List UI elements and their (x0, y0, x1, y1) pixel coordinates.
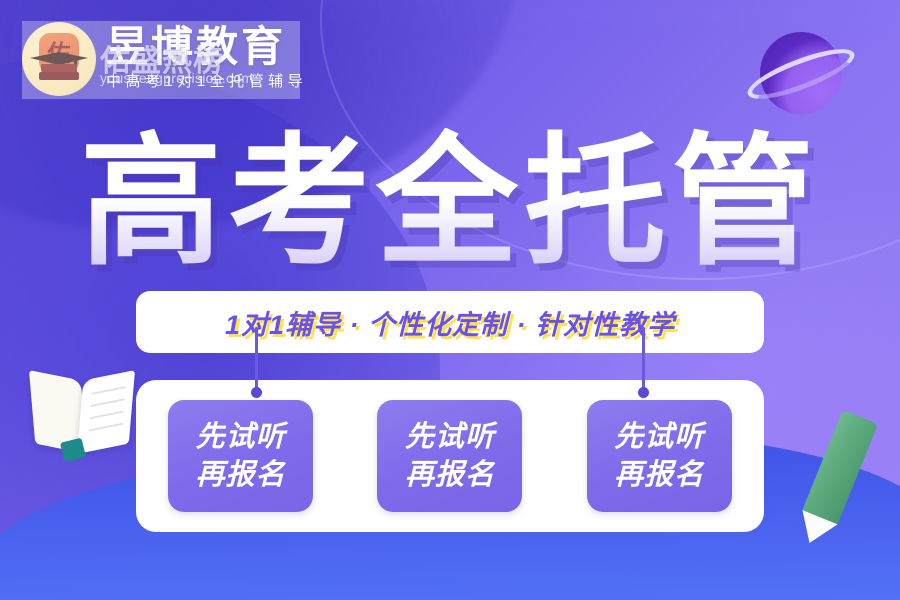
offer-card-line1: 先试听 (614, 420, 704, 454)
saturn-planet-icon (760, 32, 842, 114)
open-book-icon (28, 368, 136, 474)
graduation-cap-books-icon: 佑 (22, 22, 96, 96)
offer-card-line2: 再报名 (405, 458, 495, 492)
offer-card-line2: 再报名 (614, 458, 704, 492)
connector-right (642, 327, 649, 398)
offer-card-line1: 先试听 (196, 420, 286, 454)
offer-card[interactable]: 先试听 再报名 (587, 400, 732, 512)
brand-name: 昱博教育 (106, 25, 307, 69)
connector-left (255, 327, 262, 398)
connector-dot (251, 387, 262, 398)
connector-line (642, 327, 645, 389)
subtitle-text: 1对1辅导 · 个性化定制 · 针对性教学 (225, 303, 675, 342)
offer-card-line2: 再报名 (196, 458, 286, 492)
book-page-right (77, 370, 135, 454)
promo-poster: 佑 昱博教育 中高考1对1全托管辅导 佑盛热榜 youshengprecisio… (0, 0, 900, 600)
offer-card[interactable]: 先试听 再报名 (168, 400, 313, 512)
connector-dot (638, 387, 649, 398)
offer-card-panel: 先试听 再报名 先试听 再报名 先试听 再报名 (136, 380, 764, 532)
subtitle-bar: 1对1辅导 · 个性化定制 · 针对性教学 (136, 291, 764, 353)
book-spine (60, 438, 86, 463)
page-title: 高考全托管 (0, 128, 900, 278)
book-bottom (39, 72, 79, 80)
brand-header: 佑 昱博教育 中高考1对1全托管辅导 (22, 22, 307, 96)
offer-card[interactable]: 先试听 再报名 (377, 400, 522, 512)
brand-text-block: 昱博教育 中高考1对1全托管辅导 (106, 25, 307, 93)
connector-line (255, 327, 258, 389)
book-top (41, 64, 77, 72)
brand-subtitle: 中高考1对1全托管辅导 (106, 71, 307, 93)
offer-card-line1: 先试听 (405, 420, 495, 454)
